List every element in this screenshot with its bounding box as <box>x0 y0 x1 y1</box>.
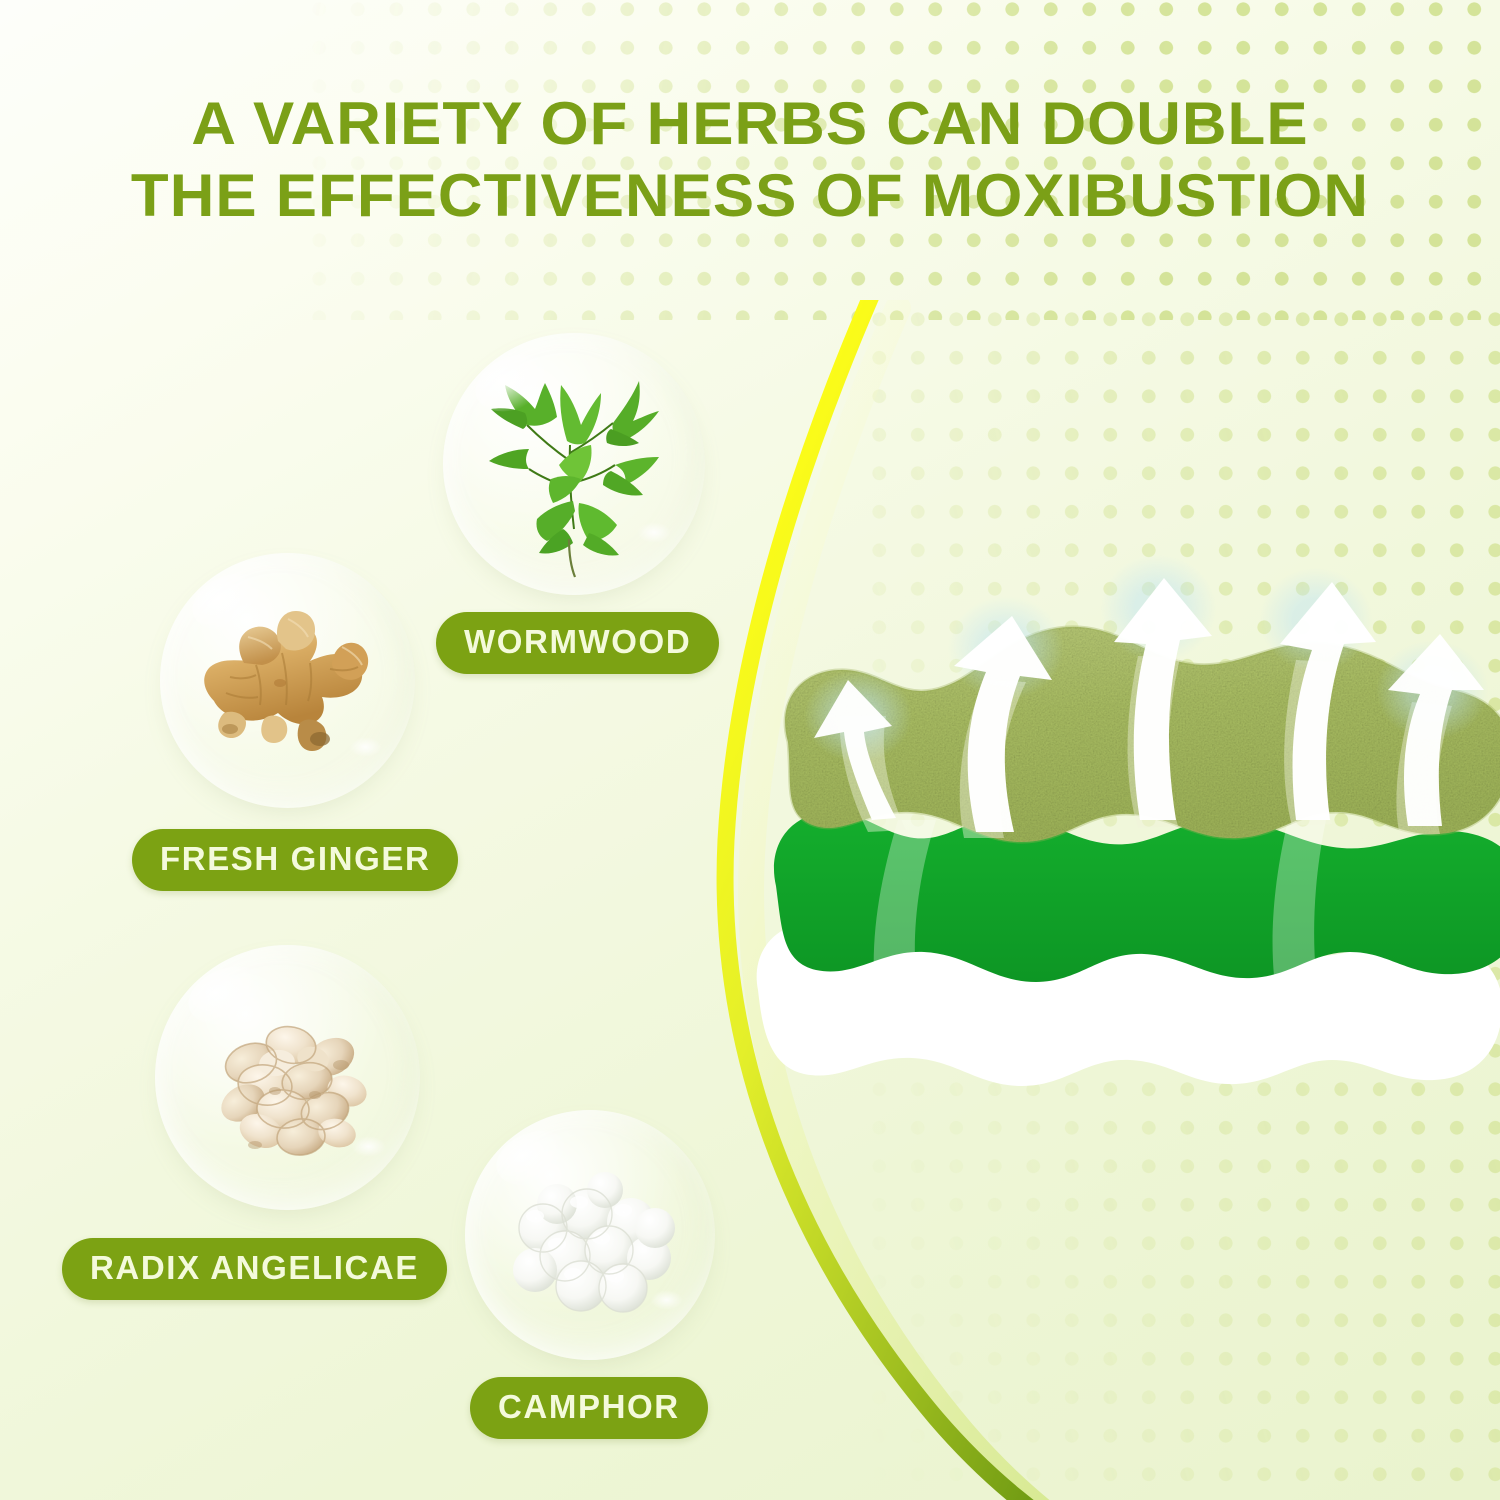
ingredient-label-camphor[interactable]: CAMPHOR <box>470 1377 708 1439</box>
dried-root-slices-icon <box>155 945 420 1210</box>
bubble-glint <box>349 737 382 757</box>
wormwood-sprig-icon <box>443 333 705 595</box>
bubble-glint <box>351 1136 385 1157</box>
infographic-canvas: A VARIETY OF HERBS CAN DOUBLE THE EFFECT… <box>0 0 1500 1500</box>
ginger-root-icon <box>160 553 415 808</box>
ingredient-bubble-radix-angelicae[interactable] <box>155 945 420 1210</box>
ingredient-label-fresh-ginger[interactable]: FRESH GINGER <box>132 829 458 891</box>
ingredient-bubble-fresh-ginger[interactable] <box>160 553 415 808</box>
camphor-balls-icon <box>465 1110 715 1360</box>
page-title: A VARIETY OF HERBS CAN DOUBLE THE EFFECT… <box>0 88 1500 232</box>
three-layer-moxibustion-patch <box>740 520 1500 1160</box>
bubble-glint <box>650 1290 683 1310</box>
page-title-line-1: A VARIETY OF HERBS CAN DOUBLE <box>0 88 1500 160</box>
ingredient-label-radix-angelicae[interactable]: RADIX ANGELICAE <box>62 1238 447 1300</box>
bubble-glint <box>637 522 671 543</box>
ingredient-label-wormwood[interactable]: WORMWOOD <box>436 612 719 674</box>
ingredient-bubble-camphor[interactable] <box>465 1110 715 1360</box>
ingredient-bubble-wormwood[interactable] <box>443 333 705 595</box>
page-title-line-2: THE EFFECTIVENESS OF MOXIBUSTION <box>0 160 1500 232</box>
